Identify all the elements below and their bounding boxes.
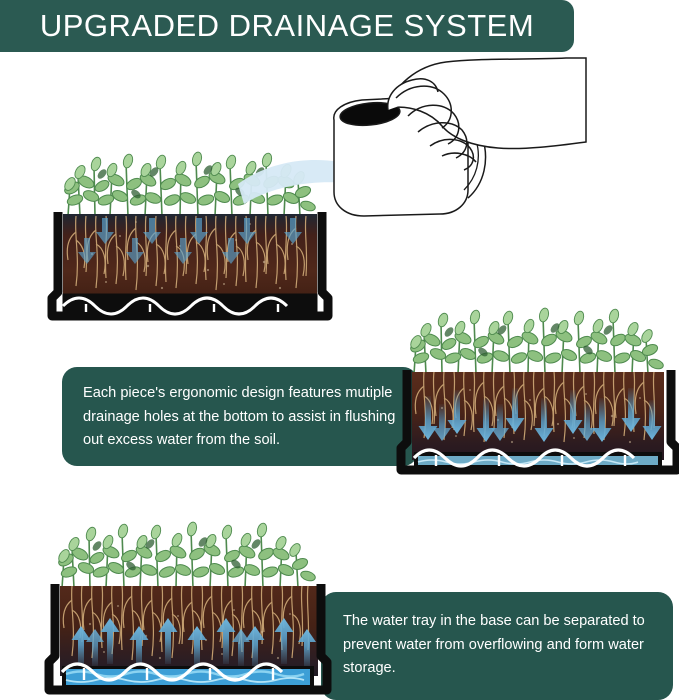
plant-foliage xyxy=(409,307,665,374)
hand-holding-watering-can-illustration xyxy=(236,58,586,238)
page-title-banner: UPGRADED DRAINAGE SYSTEM xyxy=(0,0,574,52)
plant-foliage xyxy=(57,521,317,588)
planter-illustration-draining xyxy=(398,292,679,482)
caption-drainage-holes-text: Each piece's ergonomic design features m… xyxy=(83,382,402,453)
soil-cross-section xyxy=(60,586,318,676)
page-title: UPGRADED DRAINAGE SYSTEM xyxy=(40,8,534,44)
caption-water-tray: The water tray in the base can be separa… xyxy=(321,592,673,700)
caption-water-tray-text: The water tray in the base can be separa… xyxy=(343,610,657,681)
caption-drainage-holes: Each piece's ergonomic design features m… xyxy=(62,367,418,466)
soil-cross-section xyxy=(412,372,664,460)
planter-illustration-water-storage xyxy=(42,508,332,694)
